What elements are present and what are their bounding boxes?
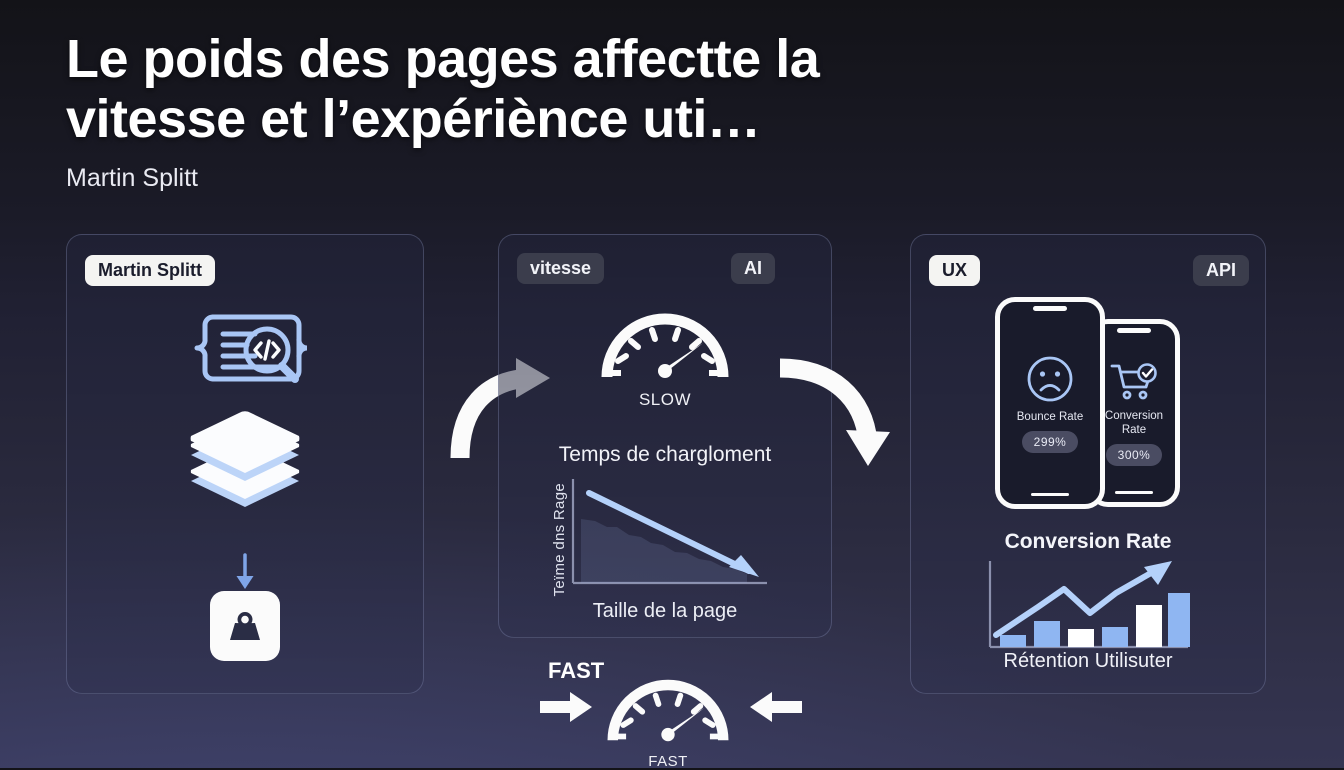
badge-vitesse[interactable]: vitesse xyxy=(517,253,604,284)
arrow-left-icon xyxy=(748,690,804,729)
badge-martin-splitt[interactable]: Martin Splitt xyxy=(85,255,215,286)
loading-time-area-chart xyxy=(559,475,771,602)
phones-group: Conversion Rate 300% Bounce Rate 299% xyxy=(995,297,1181,511)
page-subtitle: Martin Splitt xyxy=(66,164,966,193)
speedometer-fast: FAST xyxy=(598,666,738,770)
metric-value-conversion: 300% xyxy=(1106,444,1163,466)
cart-check-icon xyxy=(1108,360,1160,404)
bar-chart-title: Conversion Rate xyxy=(911,530,1265,554)
gauge-slow-label: SLOW xyxy=(593,390,737,410)
arrow-down-icon xyxy=(232,553,258,596)
speedometer-slow: SLOW xyxy=(593,299,737,410)
line-chart-xlabel: Taille de la page xyxy=(499,600,831,623)
phone-home-indicator xyxy=(1115,491,1153,494)
speedometer-fast-icon xyxy=(598,666,738,746)
curved-arrow-down-icon xyxy=(776,354,898,481)
speedometer-slow-icon xyxy=(593,299,737,383)
arrow-right-icon xyxy=(538,690,594,729)
panel-ux[interactable]: UX API Conversion Rate 300% xyxy=(910,234,1266,694)
metric-label-conversion: Conversion Rate xyxy=(1097,410,1171,438)
code-inspect-icon xyxy=(183,309,307,400)
header: Le poids des pages affectte la vitesse e… xyxy=(66,30,966,193)
fast-summary-row: FAST FAST xyxy=(520,648,840,758)
weight-icon xyxy=(210,591,280,661)
sad-face-icon xyxy=(1024,353,1076,405)
badge-ux[interactable]: UX xyxy=(929,255,980,286)
phone-bounce: Bounce Rate 299% xyxy=(995,297,1105,509)
badge-ai[interactable]: AI xyxy=(731,253,775,284)
retention-bar-chart xyxy=(982,559,1194,662)
fast-word-label: FAST xyxy=(548,658,604,684)
bar-chart-xlabel: Rétention Utilisuter xyxy=(911,650,1265,673)
layers-stack-icon xyxy=(183,411,307,552)
panel-martin-splitt[interactable]: Martin Splitt xyxy=(66,234,424,694)
page-title: Le poids des pages affectte la vitesse e… xyxy=(66,30,966,150)
metric-label-bounce: Bounce Rate xyxy=(1017,411,1084,425)
badge-api[interactable]: API xyxy=(1193,255,1249,286)
phone-home-indicator xyxy=(1031,493,1069,496)
metric-value-bounce: 299% xyxy=(1022,431,1079,453)
gauge-fast-label: FAST xyxy=(598,753,738,770)
